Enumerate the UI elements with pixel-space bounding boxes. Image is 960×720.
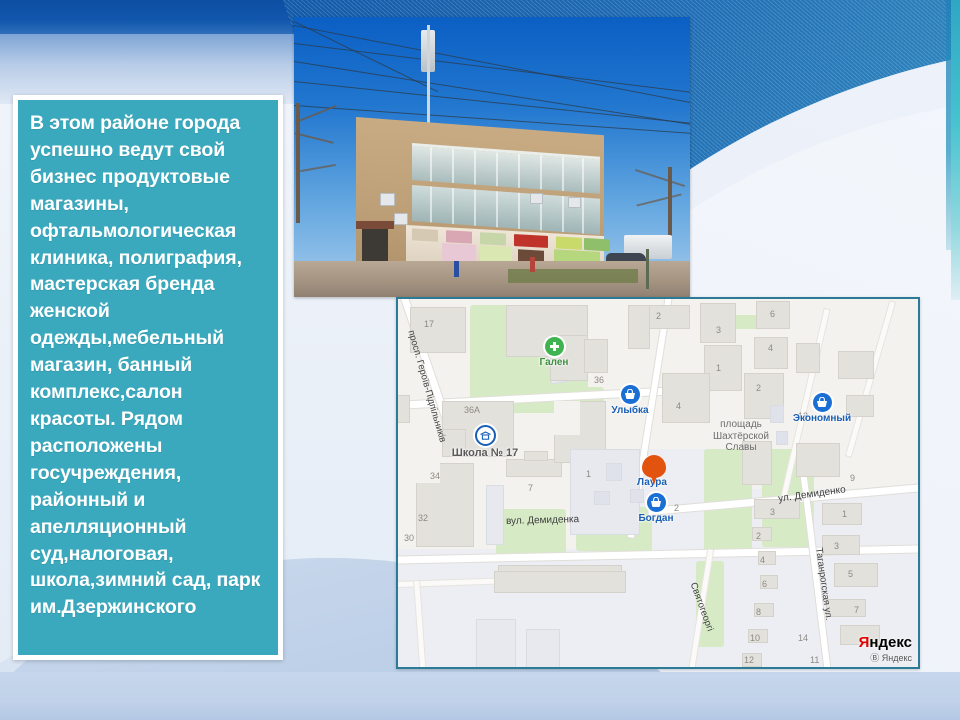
map-house-number: 4 bbox=[768, 343, 773, 353]
photo-antenna-mast bbox=[427, 25, 430, 130]
map-marker-pin-icon[interactable] bbox=[642, 455, 666, 485]
photo-pedestrian bbox=[530, 257, 535, 272]
map-poi-school-17[interactable]: Школа № 17 bbox=[430, 425, 540, 459]
map-poi-label: Экономный bbox=[782, 413, 862, 424]
building-photo bbox=[294, 17, 690, 297]
map-poi-label: Богдан bbox=[626, 513, 686, 524]
photo-air-conditioner bbox=[568, 197, 581, 208]
map-poi-bogdan[interactable]: Богдан bbox=[626, 493, 686, 524]
map-house-number: 3 bbox=[716, 325, 721, 335]
map-house-number: 14 bbox=[798, 633, 808, 643]
map-house-number: 36 bbox=[594, 375, 604, 385]
map-poi-ulybka[interactable]: Улыбка bbox=[600, 385, 660, 416]
pharmacy-cross-icon bbox=[545, 337, 564, 356]
photo-grass-strip bbox=[508, 269, 638, 283]
map-house-number: 1 bbox=[716, 363, 721, 373]
map-house-number: 8 bbox=[756, 607, 761, 617]
yandex-logo-letter: Я bbox=[859, 634, 870, 651]
yandex-map[interactable]: 17 36А 36 34 32 30 2 3 4 6 1 2 4 9 7 2 3… bbox=[396, 297, 920, 669]
photo-pedestrian bbox=[454, 261, 459, 277]
photo-air-conditioner bbox=[380, 193, 395, 206]
map-poi-ekonomnyy[interactable]: Экономный bbox=[782, 393, 862, 424]
map-house-number: 30 bbox=[404, 533, 414, 543]
background-right-stripe bbox=[951, 0, 960, 300]
description-text: В этом районе города успешно ведут свой … bbox=[30, 110, 270, 621]
map-house-number: 5 bbox=[848, 569, 853, 579]
map-poi-label: Улыбка bbox=[600, 405, 660, 416]
map-house-number: 2 bbox=[656, 311, 661, 321]
map-copyright: Ⓑ Яндекс bbox=[870, 651, 912, 664]
photo-pole bbox=[646, 249, 649, 289]
map-canvas: 17 36А 36 34 32 30 2 3 4 6 1 2 4 9 7 2 3… bbox=[398, 299, 918, 667]
map-house-number: 2 bbox=[756, 383, 761, 393]
map-house-number: 7 bbox=[854, 605, 859, 615]
map-house-number: 4 bbox=[676, 401, 681, 411]
shopping-basket-icon bbox=[647, 493, 666, 512]
map-house-number: 2 bbox=[756, 531, 761, 541]
map-house-number: 12 bbox=[744, 655, 754, 665]
map-house-number: 36А bbox=[464, 405, 480, 415]
photo-entrance-canopy bbox=[356, 221, 394, 229]
slide-canvas: В этом районе города успешно ведут свой … bbox=[0, 0, 960, 720]
map-house-number: 7 bbox=[528, 483, 533, 493]
map-poi-label: Школа № 17 bbox=[430, 447, 540, 459]
map-house-number: 1 bbox=[586, 469, 591, 479]
school-icon bbox=[475, 425, 496, 446]
map-house-number: 11 bbox=[810, 655, 819, 665]
map-house-number: 6 bbox=[770, 309, 775, 319]
map-house-number: 32 bbox=[418, 513, 428, 523]
description-text-card: В этом районе города успешно ведут свой … bbox=[13, 95, 283, 660]
shopping-basket-icon bbox=[621, 385, 640, 404]
map-house-number: 3 bbox=[770, 507, 775, 517]
yandex-logo-rest: ндекс bbox=[869, 634, 912, 651]
map-house-number: 4 bbox=[760, 555, 765, 565]
yandex-logo[interactable]: Яндекс bbox=[859, 634, 912, 651]
map-place-label: площадь Шахтёрской Славы bbox=[698, 419, 784, 454]
map-poi-label: Гален bbox=[524, 357, 584, 368]
map-house-number: 3 bbox=[834, 541, 839, 551]
map-house-number: 17 bbox=[424, 319, 434, 329]
background-bottom-fill-inner bbox=[0, 700, 960, 720]
shopping-basket-icon bbox=[813, 393, 832, 412]
map-house-number: 9 bbox=[850, 473, 855, 483]
map-poi-galen[interactable]: Гален bbox=[524, 337, 584, 368]
photo-air-conditioner bbox=[530, 193, 543, 204]
map-house-number: 10 bbox=[750, 633, 760, 643]
map-house-number: 34 bbox=[430, 471, 440, 481]
map-house-number: 1 bbox=[842, 509, 847, 519]
photo-air-conditioner bbox=[394, 213, 408, 225]
map-street-label: вул. Демиденка bbox=[506, 514, 579, 527]
map-house-number: 6 bbox=[762, 579, 767, 589]
